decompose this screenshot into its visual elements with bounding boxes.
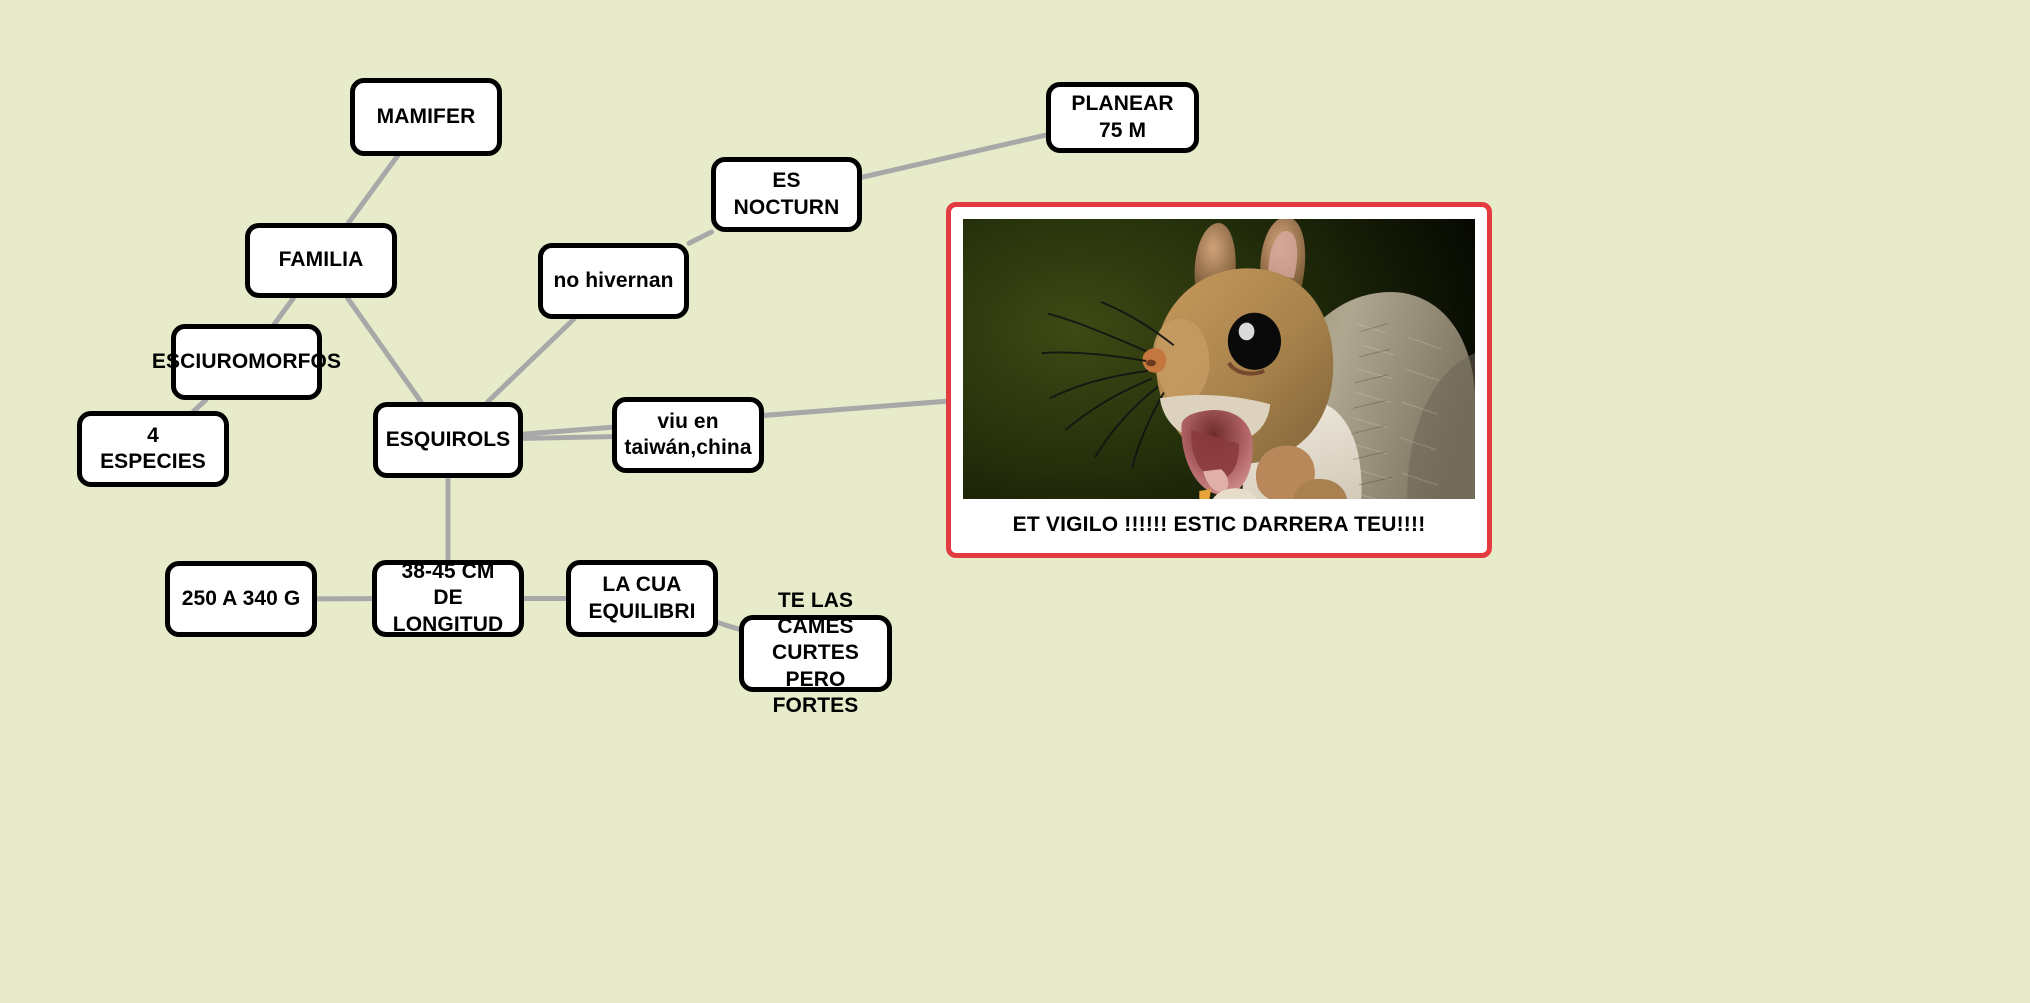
- mindmap-node-no-hivernan[interactable]: no hivernan: [538, 243, 689, 319]
- node-label: LA CUA EQUILIBRI: [581, 572, 703, 625]
- mindmap-node-cames[interactable]: TE LAS CAMES CURTES PERO FORTES: [739, 615, 892, 692]
- squirrel-illustration: [963, 219, 1475, 499]
- node-label: TE LAS CAMES CURTES PERO FORTES: [754, 588, 877, 719]
- edge-familia-to-esquirols: [348, 298, 422, 402]
- node-label: no hivernan: [553, 268, 673, 294]
- edge-familia-to-esciuromorfos: [274, 298, 293, 324]
- node-label: 38-45 CM DE LONGITUD: [387, 559, 509, 638]
- node-label: FAMILIA: [279, 247, 364, 273]
- mindmap-canvas: ET VIGILO !!!!!! ESTIC DARRERA TEU!!!! M…: [0, 0, 2030, 1003]
- edge-es-nocturn-to-planear: [862, 135, 1046, 177]
- mindmap-node-esciuromorfos[interactable]: ESCIUROMORFOS: [171, 324, 322, 400]
- mindmap-node-especies[interactable]: 4 ESPECIES: [77, 411, 229, 487]
- edge-mamifer-to-familia: [348, 156, 397, 223]
- mindmap-node-planear[interactable]: PLANEAR 75 M: [1046, 82, 1199, 153]
- edge-esquirols-to-no-hivernan: [488, 319, 574, 402]
- node-label: PLANEAR 75 M: [1061, 91, 1184, 144]
- mindmap-node-la-cua[interactable]: LA CUA EQUILIBRI: [566, 560, 718, 637]
- edge-no-hivernan-to-es-nocturn: [689, 232, 712, 243]
- mindmap-node-mamifer[interactable]: MAMIFER: [350, 78, 502, 156]
- mindmap-node-es-nocturn[interactable]: ES NOCTURN: [711, 157, 862, 232]
- edge-la-cua-to-cames: [718, 623, 739, 630]
- edge-esciuromorfos-to-especies: [194, 400, 206, 411]
- node-label: ES NOCTURN: [726, 168, 847, 221]
- node-label: MAMIFER: [377, 104, 476, 130]
- mindmap-node-longitud[interactable]: 38-45 CM DE LONGITUD: [372, 560, 524, 637]
- squirrel-photo: [963, 219, 1475, 499]
- node-label: ESCIUROMORFOS: [152, 349, 341, 375]
- node-label: 4 ESPECIES: [92, 423, 214, 476]
- photo-caption: ET VIGILO !!!!!! ESTIC DARRERA TEU!!!!: [963, 499, 1475, 547]
- mindmap-node-peso[interactable]: 250 A 340 G: [165, 561, 317, 637]
- mindmap-node-viu-en[interactable]: viu en taiwán,china: [612, 397, 764, 473]
- node-label: 250 A 340 G: [182, 586, 301, 612]
- mindmap-node-esquirols[interactable]: ESQUIROLS: [373, 402, 523, 478]
- node-label: viu en taiwán,china: [624, 409, 751, 462]
- node-label: ESQUIROLS: [386, 427, 511, 453]
- photo-card[interactable]: ET VIGILO !!!!!! ESTIC DARRERA TEU!!!!: [946, 202, 1492, 558]
- mindmap-node-familia[interactable]: FAMILIA: [245, 223, 397, 298]
- edge-esquirols-to-viu-en: [523, 437, 612, 439]
